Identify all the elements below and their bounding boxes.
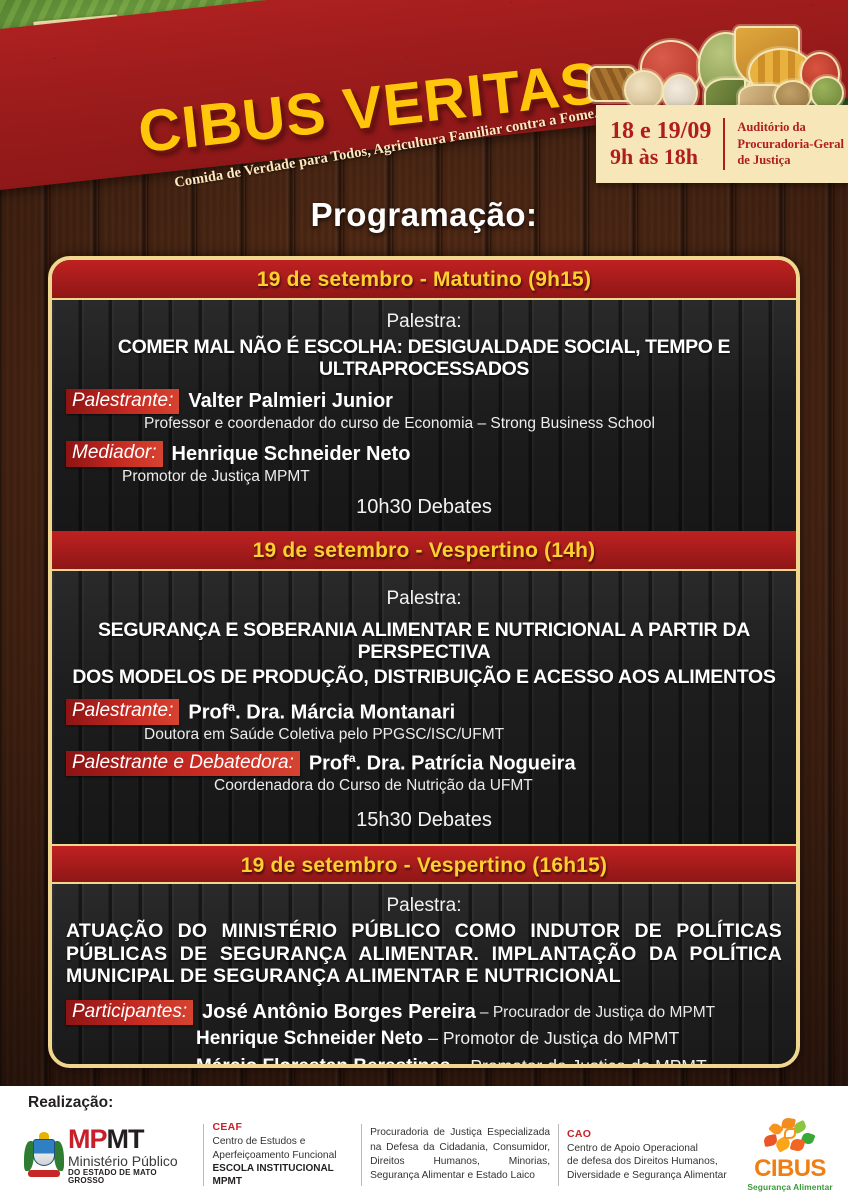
session-3-participant-3-role: – Promotor de Justiça do MPMT [456,1056,707,1068]
session-3-talk-label: Palestra: [66,894,782,918]
venue-line-1: Auditório da [737,119,844,136]
session-2-talk-title-line-1: SEGURANÇA E SOBERANIA ALIMENTAR E NUTRIC… [66,619,782,664]
session-1-mediator-row: Mediador:Henrique Schneider Neto [66,441,782,466]
session-2-speaker-2-row: Palestrante e Debatedora:Profa. Dra. Pat… [66,751,782,776]
mpmt-name: Ministério Público [68,1154,187,1168]
mato-grosso-coat-of-arms-icon [24,1131,64,1179]
session-1-speaker-name: Valter Palmieri Junior [188,390,393,413]
venue-line-3: de Justiça [737,152,844,169]
date-venue-card: 18 e 19/09 9h às 18h Auditório da Procur… [596,105,848,183]
session-1-body: Palestra: COMER MAL NÃO É ESCOLHA: DESIG… [52,300,796,531]
session-3-participant-row-3: Márcio Florestan Berestinas – Promotor d… [66,1054,782,1068]
session-2-speaker-1-name: Profa. Dra. Márcia Montanari [188,700,455,725]
session-3-participant-2-name: Henrique Schneider Neto [196,1028,423,1049]
session-1-mediator-name: Henrique Schneider Neto [172,443,411,466]
session-1-debates: 10h30 Debates [66,496,782,519]
procuradoria-block: Procuradoria de Justiça Especializada na… [370,1126,550,1183]
cao-line-3: Diversidade e Segurança Alimentar [567,1169,732,1182]
session-3-participant-row-1: Participantes:José Antônio Borges Pereir… [66,1000,782,1025]
session-3-participant-row-2: Henrique Schneider Neto – Promotor de Ju… [66,1026,782,1053]
session-2-header: 19 de setembro - Vespertino (14h) [52,531,796,571]
session-3-participant-2-role: – Promotor de Justiça do MPMT [428,1028,679,1048]
mpmt-logo-text: MPMT Ministério Público DO ESTADO DE MAT… [68,1126,187,1185]
cibus-logo: CIBUS Segurança Alimentar [742,1118,838,1192]
ceaf-block: CEAF Centro de Estudos e Aperfeiçoamento… [212,1121,353,1188]
session-3-participant-1-name: José Antônio Borges Pereira [202,1001,476,1024]
session-3-participants-chip: Participantes: [66,1000,193,1025]
session-1-speaker-chip: Palestrante: [66,389,179,414]
session-1-speaker-row: Palestrante:Valter Palmieri Junior [66,389,782,414]
date-time-block: 18 e 19/09 9h às 18h [596,118,723,170]
onion-icon [624,70,664,110]
venue-block: Auditório da Procuradoria-Geral de Justi… [725,119,844,169]
program-panel: 19 de setembro - Matutino (9h15) Palestr… [48,256,800,1068]
session-2-speaker-1-chip: Palestrante: [66,699,179,724]
session-2-speaker-2-chip: Palestrante e Debatedora: [66,751,300,776]
session-block-2: 19 de setembro - Vespertino (14h) Palest… [52,531,796,844]
session-3-participant-3-name: Márcio Florestan Berestinas [196,1056,450,1068]
session-2-debates: 15h30 Debates [66,809,782,832]
ceaf-line-3: ESCOLA INSTITUCIONAL MPMT [212,1162,353,1188]
venue-line-2: Procuradoria-Geral [737,136,844,153]
cibus-tagline: Segurança Alimentar [742,1182,838,1192]
poster-header: CIBUS VERITAS Comida de Verdade para Tod… [0,0,848,205]
mpmt-initials: MPMT [68,1126,187,1153]
session-3-talk-title-line-3: MUNICIPAL DE SEGURANÇA ALIMENTAR E NUTRI… [66,965,782,988]
event-hours: 9h às 18h [610,145,711,170]
page-title: Programação: [0,196,848,234]
cao-acronym: CAO [567,1128,732,1142]
ceaf-line-1: Centro de Estudos e [212,1135,353,1148]
session-3-header: 19 de setembro - Vespertino (16h15) [52,844,796,884]
session-block-3: 19 de setembro - Vespertino (16h15) Pale… [52,844,796,1068]
cao-block: CAO Centro de Apoio Operacional de defes… [567,1128,732,1182]
session-3-participant-1-role: – Procurador de Justiça do MPMT [480,1004,715,1021]
cibus-wordmark: CIBUS [742,1157,838,1181]
event-dates: 18 e 19/09 [610,118,711,145]
session-1-mediator-chip: Mediador: [66,441,163,466]
poster-footer: Realização: MPMT Ministério Público DO E… [0,1086,848,1200]
session-3-talk-title: ATUAÇÃO DO MINISTÉRIO PÚBLICO COMO INDUT… [66,920,782,988]
divider-2 [361,1124,362,1186]
logo-bar: MPMT Ministério Público DO ESTADO DE MAT… [24,1118,838,1192]
session-1-mediator-desc: Promotor de Justiça MPMT [66,468,782,486]
divider-3 [558,1124,559,1186]
session-1-talk-label: Palestra: [66,310,782,334]
session-2-speaker-2-name: Profa. Dra. Patrícia Nogueira [309,751,576,776]
session-1-header: 19 de setembro - Matutino (9h15) [52,260,796,300]
ceaf-acronym: CEAF [212,1121,353,1135]
session-3-participants: Participantes:José Antônio Borges Pereir… [66,1000,782,1068]
session-3-talk-title-line-2: PÚBLICAS DE SEGURANÇA ALIMENTAR. IMPLANT… [66,943,782,966]
event-poster: CIBUS VERITAS Comida de Verdade para Tod… [0,0,848,1200]
realizacao-label: Realização: [28,1094,113,1112]
session-2-body: Palestra: SEGURANÇA E SOBERANIA ALIMENTA… [52,571,796,844]
cao-line-1: Centro de Apoio Operacional [567,1142,732,1155]
session-2-talk-title-line-2: DOS MODELOS DE PRODUÇÃO, DISTRIBUIÇÃO E … [66,666,782,689]
session-2-speaker-1-row: Palestrante:Profa. Dra. Márcia Montanari [66,699,782,724]
session-3-talk-title-line-1: ATUAÇÃO DO MINISTÉRIO PÚBLICO COMO INDUT… [66,920,782,943]
session-block-1: 19 de setembro - Matutino (9h15) Palestr… [52,260,796,531]
session-2-speaker-2-desc: Coordenadora do Curso de Nutrição da UFM… [66,777,782,795]
session-3-body: Palestra: ATUAÇÃO DO MINISTÉRIO PÚBLICO … [52,884,796,1068]
session-2-speaker-1-desc: Doutora em Saúde Coletiva pelo PPGSC/ISC… [66,726,782,744]
session-2-talk-label: Palestra: [66,587,782,611]
cao-line-2: de defesa dos Direitos Humanos, [567,1155,732,1168]
divider-1 [203,1124,204,1186]
session-1-talk-title: COMER MAL NÃO É ESCOLHA: DESIGUALDADE SO… [66,336,782,381]
mpmt-state: DO ESTADO DE MATO GROSSO [68,1169,187,1185]
ceaf-line-2: Aperfeiçoamento Funcional [212,1149,353,1162]
session-1-speaker-desc: Professor e coordenador do curso de Econ… [66,415,782,433]
cibus-food-burst-icon [764,1118,816,1156]
